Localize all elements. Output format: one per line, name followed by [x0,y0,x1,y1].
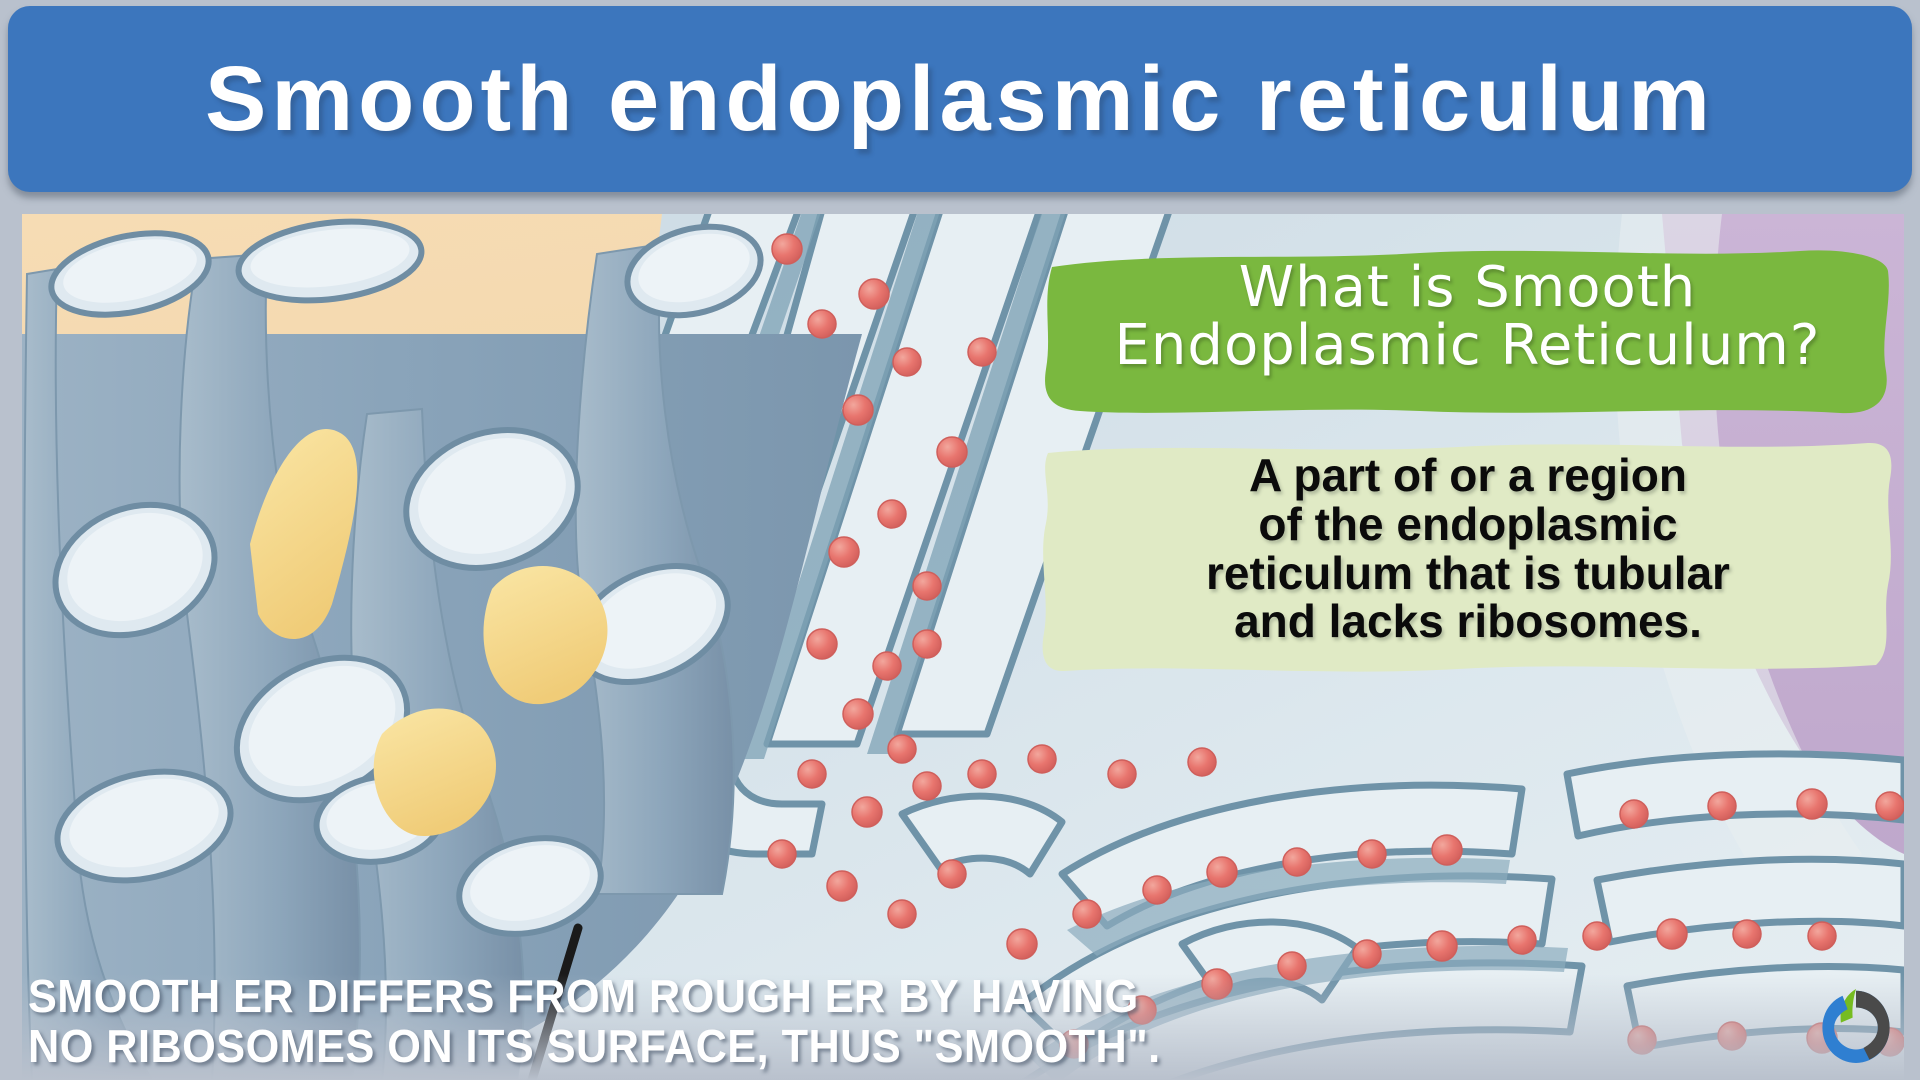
question-box: What is Smooth Endoplasmic Reticulum? [1040,245,1895,420]
page-title: Smooth endoplasmic reticulum [8,53,1912,145]
definition-box-text: A part of or a region of the endoplasmic… [1038,437,1898,646]
question-box-text: What is Smooth Endoplasmic Reticulum? [1040,245,1895,375]
definition-box: A part of or a region of the endoplasmic… [1038,437,1898,677]
bottom-caption: SMOOTH ER DIFFERS FROM ROUGH ER BY HAVIN… [28,971,1344,1072]
page-title-bar: Smooth endoplasmic reticulum [8,6,1912,192]
biology-online-logo-icon[interactable] [1814,984,1898,1068]
